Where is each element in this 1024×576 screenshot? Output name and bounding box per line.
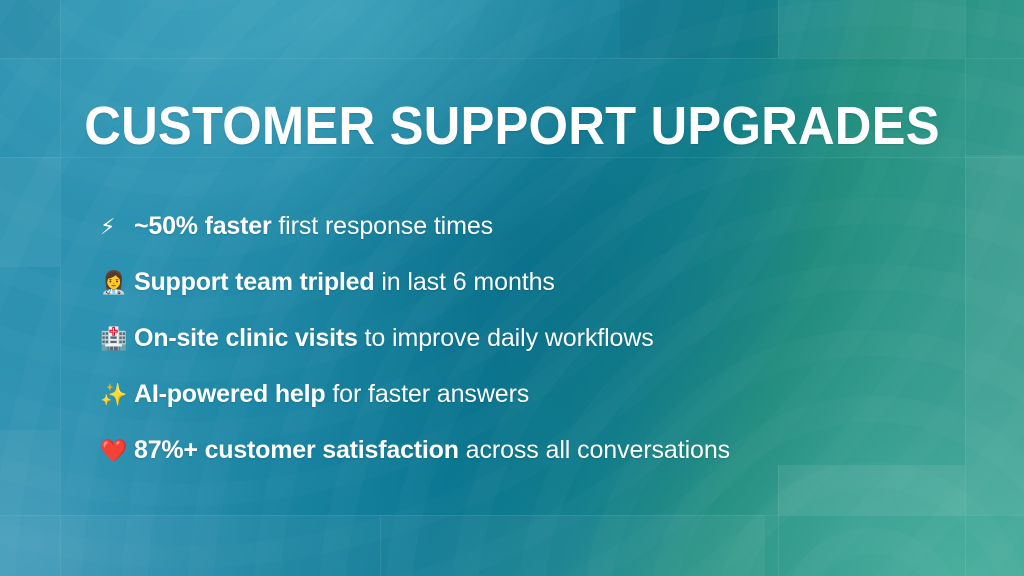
bullet-highlight: AI-powered help: [134, 380, 325, 408]
high-voltage-emoji: ⚡: [100, 200, 134, 256]
bullet-text: AI-powered help for faster answers: [134, 366, 529, 422]
bullet-text: On-site clinic visits to improve daily w…: [134, 310, 654, 366]
page-title: CUSTOMER SUPPORT UPGRADES: [31, 97, 994, 155]
bullet-text: ~50% faster first response times: [134, 198, 493, 254]
bullet-rest: first response times: [271, 212, 493, 240]
bullet-text: 87%+ customer satisfaction across all co…: [134, 422, 730, 478]
bullet-rest: across all conversations: [459, 436, 730, 464]
list-item: ⚡ ~50% faster first response times: [100, 198, 984, 254]
health-worker-emoji: 👩‍⚕️: [100, 256, 134, 312]
bullet-rest: to improve daily workflows: [358, 324, 654, 352]
slide-content: CUSTOMER SUPPORT UPGRADES ⚡ ~50% faster …: [0, 0, 1024, 576]
list-item: 👩‍⚕️ Support team tripled in last 6 mont…: [100, 254, 984, 310]
bullet-highlight: ~50% faster: [134, 212, 271, 240]
bullet-highlight: On-site clinic visits: [134, 324, 358, 352]
bullet-highlight: Support team tripled: [134, 268, 374, 296]
slide-canvas: CUSTOMER SUPPORT UPGRADES ⚡ ~50% faster …: [0, 0, 1024, 576]
sparkles-emoji: ✨: [100, 368, 134, 424]
list-item: ✨ AI-powered help for faster answers: [100, 366, 984, 422]
red-heart-emoji: ❤️: [100, 424, 134, 480]
bullet-highlight: 87%+ customer satisfaction: [134, 436, 459, 464]
list-item: ❤️ 87%+ customer satisfaction across all…: [100, 422, 984, 478]
bullet-rest: for faster answers: [325, 380, 529, 408]
hospital-emoji: 🏥: [100, 312, 134, 368]
list-item: 🏥 On-site clinic visits to improve daily…: [100, 310, 984, 366]
bullet-list: ⚡ ~50% faster first response times 👩‍⚕️ …: [100, 198, 984, 478]
bullet-text: Support team tripled in last 6 months: [134, 254, 555, 310]
bullet-rest: in last 6 months: [374, 268, 554, 296]
